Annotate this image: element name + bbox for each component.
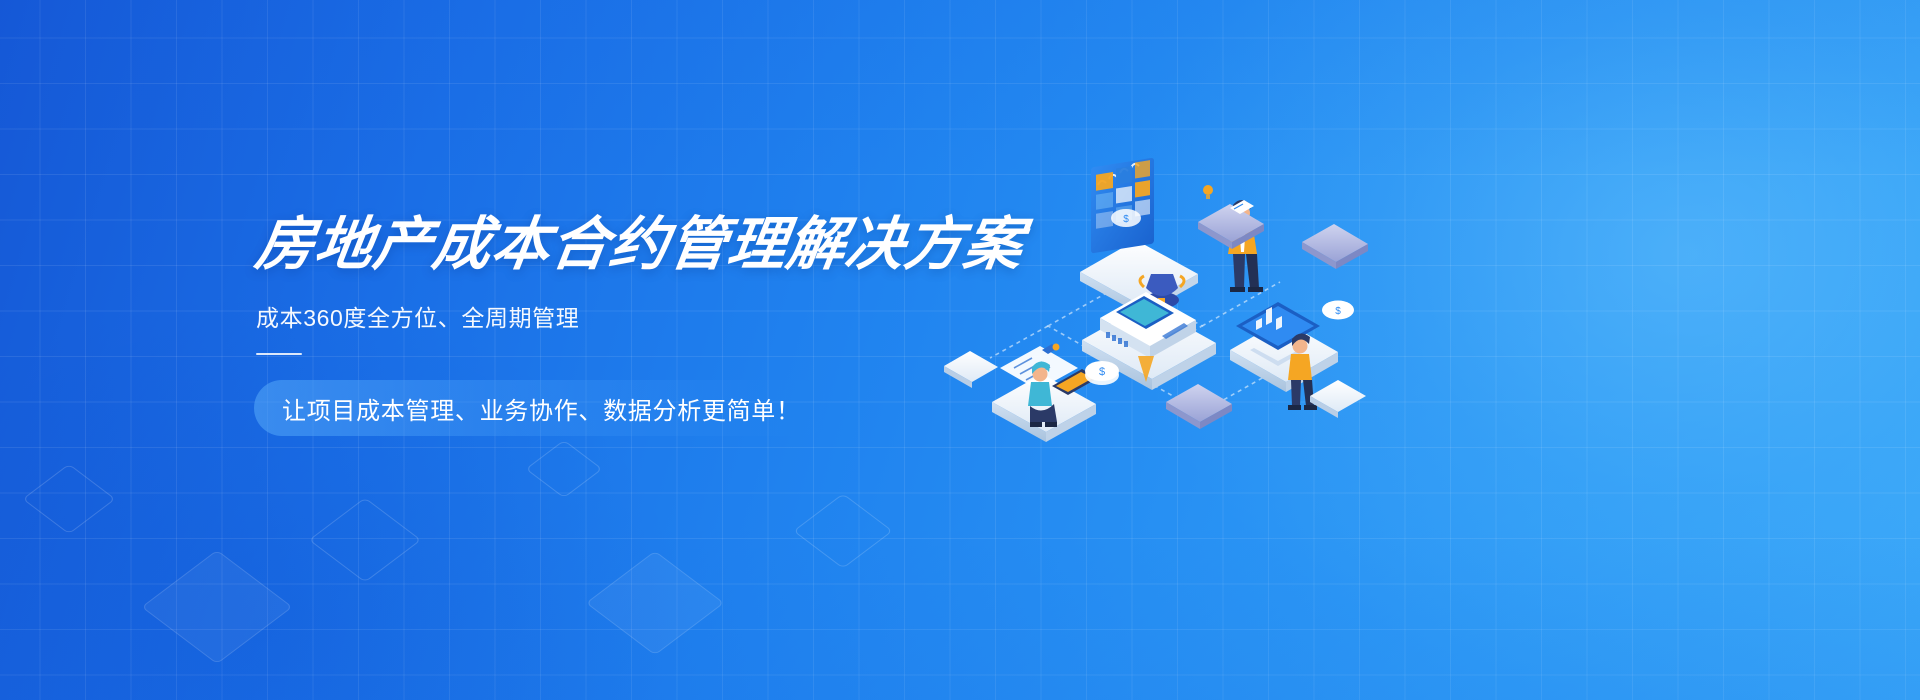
coin-icon-right: $ [1322, 301, 1354, 320]
hero-banner: 房地产成本合约管理解决方案 成本360度全方位、全周期管理 让项目成本管理、业务… [0, 0, 1920, 700]
svg-text:$: $ [1123, 214, 1129, 225]
platform-tile-lavender-bottom [1166, 384, 1232, 429]
platform-tile-small-left [944, 351, 998, 388]
platform-tile-lavender-right [1302, 224, 1368, 269]
coin-icon-mid: $ [1111, 209, 1141, 227]
page-title: 房地产成本合约管理解决方案 [252, 214, 1021, 277]
tagline-text: 让项目成本管理、业务协作、数据分析更简单！ [282, 391, 801, 426]
divider-rule [256, 353, 302, 355]
hero-subtitle: 成本360度全方位、全周期管理 [256, 299, 1016, 333]
calendar-board [1091, 158, 1154, 254]
hero-illustration: $ $ $ [930, 150, 1400, 450]
svg-text:$: $ [1335, 306, 1341, 317]
lightbulb-icon [1203, 185, 1213, 199]
svg-text:$: $ [1099, 366, 1105, 378]
tagline-pill: 让项目成本管理、业务协作、数据分析更简单！ [254, 380, 831, 436]
coin-icon-left: $ [1085, 361, 1119, 385]
platform-tile-small-right [1310, 380, 1366, 418]
hero-copy: 房地产成本合约管理解决方案 成本360度全方位、全周期管理 让项目成本管理、业务… [256, 214, 1016, 355]
